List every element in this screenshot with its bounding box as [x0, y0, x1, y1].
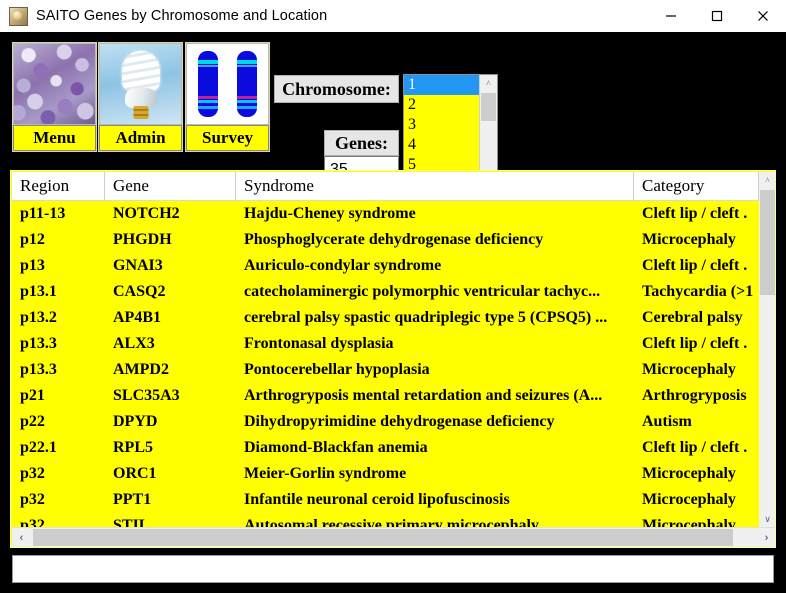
survey-button-label: Survey — [186, 125, 269, 151]
cell-syndrome: Pontocerebellar hypoplasia — [236, 357, 634, 383]
grid-header-row: Region Gene Syndrome Category — [12, 172, 759, 201]
column-header-region[interactable]: Region — [12, 172, 105, 200]
grid-scroll-down-icon[interactable]: ∨ — [759, 511, 776, 528]
table-row[interactable]: p13.2AP4B1cerebral palsy spastic quadrip… — [12, 305, 759, 331]
table-row[interactable]: p22.1RPL5Diamond-Blackfan anemiaCleft li… — [12, 435, 759, 461]
column-header-gene[interactable]: Gene — [105, 172, 236, 200]
table-row[interactable]: p21SLC35A3Arthrogryposis mental retardat… — [12, 383, 759, 409]
grid-scroll-left-icon[interactable]: ‹ — [12, 528, 31, 547]
title-bar: SAITO Genes by Chromosome and Location — [0, 0, 786, 33]
menu-button[interactable]: Menu — [12, 42, 97, 152]
cell-category: Autism — [634, 409, 759, 435]
chromosome-option-4[interactable]: 4 — [404, 135, 479, 155]
cell-syndrome: cerebral palsy spastic quadriplegic type… — [236, 305, 634, 331]
table-row[interactable]: p12PHGDHPhosphoglycerate dehydrogenase d… — [12, 227, 759, 253]
minimize-button[interactable] — [648, 0, 694, 32]
cell-gene: STIL — [105, 513, 236, 528]
cell-syndrome: Dihydropyrimidine dehydrogenase deficien… — [236, 409, 634, 435]
cell-gene: ALX3 — [105, 331, 236, 357]
genes-data-grid: Region Gene Syndrome Category p11-13NOTC… — [10, 170, 776, 548]
cell-region: p13 — [12, 253, 105, 279]
survey-button[interactable]: Survey — [185, 42, 270, 152]
cell-category: Microcephaly — [634, 357, 759, 383]
cell-category: Cleft lip / cleft . — [634, 331, 759, 357]
table-row[interactable]: p13.1CASQ2catecholaminergic polymorphic … — [12, 279, 759, 305]
cell-gene: SLC35A3 — [105, 383, 236, 409]
light-bulb-image — [99, 43, 182, 125]
cell-category: Cleft lip / cleft . — [634, 253, 759, 279]
cell-gene: ORC1 — [105, 461, 236, 487]
cell-category: Cleft lip / cleft . — [634, 201, 759, 227]
cell-category: Cleft lip / cleft . — [634, 435, 759, 461]
cell-gene: RPL5 — [105, 435, 236, 461]
cell-gene: AMPD2 — [105, 357, 236, 383]
grid-scroll-right-icon[interactable]: › — [757, 528, 776, 547]
grid-body: p11-13NOTCH2Hajdu-Cheney syndromeCleft l… — [12, 201, 759, 528]
table-row[interactable]: p13.3ALX3Frontonasal dysplasiaCleft lip … — [12, 331, 759, 357]
cell-syndrome: catecholaminergic polymorphic ventricula… — [236, 279, 634, 305]
cell-syndrome: Phosphoglycerate dehydrogenase deficienc… — [236, 227, 634, 253]
wisteria-flowers-image — [13, 43, 96, 125]
cell-region: p32 — [12, 513, 105, 528]
cell-region: p32 — [12, 487, 105, 513]
admin-button[interactable]: Admin — [98, 42, 183, 152]
cell-region: p13.3 — [12, 357, 105, 383]
table-row[interactable]: p32STILAutosomal recessive primary micro… — [12, 513, 759, 528]
maximize-icon — [710, 9, 724, 23]
cell-region: p13.3 — [12, 331, 105, 357]
genes-label: Genes: — [324, 130, 399, 156]
cell-gene: AP4B1 — [105, 305, 236, 331]
table-row[interactable]: p32ORC1Meier-Gorlin syndromeMicrocephaly — [12, 461, 759, 487]
cell-syndrome: Frontonasal dysplasia — [236, 331, 634, 357]
cell-gene: PHGDH — [105, 227, 236, 253]
grid-horizontal-scrollbar-thumb[interactable] — [33, 529, 733, 546]
cell-category: Tachycardia (>1 — [634, 279, 759, 305]
cell-gene: DPYD — [105, 409, 236, 435]
cell-category: Cerebral palsy — [634, 305, 759, 331]
minimize-icon — [664, 9, 678, 23]
toolbar: Menu Admin — [0, 32, 786, 167]
application-window: SAITO Genes by Chromosome and Location — [0, 0, 786, 593]
chromosome-label: Chromosome: — [274, 75, 399, 103]
cell-region: p22 — [12, 409, 105, 435]
admin-button-label: Admin — [99, 125, 182, 151]
grid-vertical-scrollbar-thumb[interactable] — [760, 190, 775, 295]
column-header-category[interactable]: Category — [634, 172, 759, 200]
scrollbar-thumb[interactable] — [481, 93, 496, 121]
cell-gene: PPT1 — [105, 487, 236, 513]
window-controls — [648, 0, 786, 32]
cell-gene: GNAI3 — [105, 253, 236, 279]
cell-region: p21 — [12, 383, 105, 409]
cell-region: p13.1 — [12, 279, 105, 305]
cell-region: p13.2 — [12, 305, 105, 331]
column-header-syndrome[interactable]: Syndrome — [236, 172, 634, 200]
cell-category: Microcephaly — [634, 487, 759, 513]
cell-gene: CASQ2 — [105, 279, 236, 305]
table-row[interactable]: p32PPT1Infantile neuronal ceroid lipofus… — [12, 487, 759, 513]
table-row[interactable]: p22DPYDDihydropyrimidine dehydrogenase d… — [12, 409, 759, 435]
cell-category: Microcephaly — [634, 513, 759, 528]
grid-horizontal-scrollbar[interactable]: ‹ › — [12, 527, 776, 548]
menu-button-label: Menu — [13, 125, 96, 151]
table-row[interactable]: p11-13NOTCH2Hajdu-Cheney syndromeCleft l… — [12, 201, 759, 227]
cell-region: p11-13 — [12, 201, 105, 227]
table-row[interactable]: p13.3AMPD2Pontocerebellar hypoplasiaMicr… — [12, 357, 759, 383]
cell-category: Arthrogryposis — [634, 383, 759, 409]
chromosome-option-1[interactable]: 1 — [404, 75, 479, 95]
grid-scroll-up-icon[interactable]: ^ — [759, 172, 776, 189]
grid-vertical-scrollbar[interactable]: ^ ∨ — [759, 172, 776, 528]
scroll-up-icon[interactable]: ^ — [480, 75, 497, 92]
window-title: SAITO Genes by Chromosome and Location — [36, 8, 327, 24]
chromosome-option-3[interactable]: 3 — [404, 115, 479, 135]
cell-region: p22.1 — [12, 435, 105, 461]
cell-category: Microcephaly — [634, 227, 759, 253]
cell-syndrome: Arthrogryposis mental retardation and se… — [236, 383, 634, 409]
cell-syndrome: Infantile neuronal ceroid lipofuscinosis — [236, 487, 634, 513]
cell-gene: NOTCH2 — [105, 201, 236, 227]
status-panel — [12, 555, 774, 583]
close-button[interactable] — [740, 0, 786, 32]
maximize-button[interactable] — [694, 0, 740, 32]
chromosome-option-2[interactable]: 2 — [404, 95, 479, 115]
app-icon — [9, 7, 28, 26]
table-row[interactable]: p13GNAI3Auriculo-condylar syndromeCleft … — [12, 253, 759, 279]
cell-syndrome: Diamond-Blackfan anemia — [236, 435, 634, 461]
close-icon — [756, 9, 770, 23]
cell-syndrome: Auriculo-condylar syndrome — [236, 253, 634, 279]
cell-region: p12 — [12, 227, 105, 253]
cell-syndrome: Meier-Gorlin syndrome — [236, 461, 634, 487]
cell-syndrome: Hajdu-Cheney syndrome — [236, 201, 634, 227]
chromosome-bars-image — [186, 43, 269, 125]
cell-syndrome: Autosomal recessive primary microcephaly — [236, 513, 634, 528]
cell-category: Microcephaly — [634, 461, 759, 487]
cell-region: p32 — [12, 461, 105, 487]
